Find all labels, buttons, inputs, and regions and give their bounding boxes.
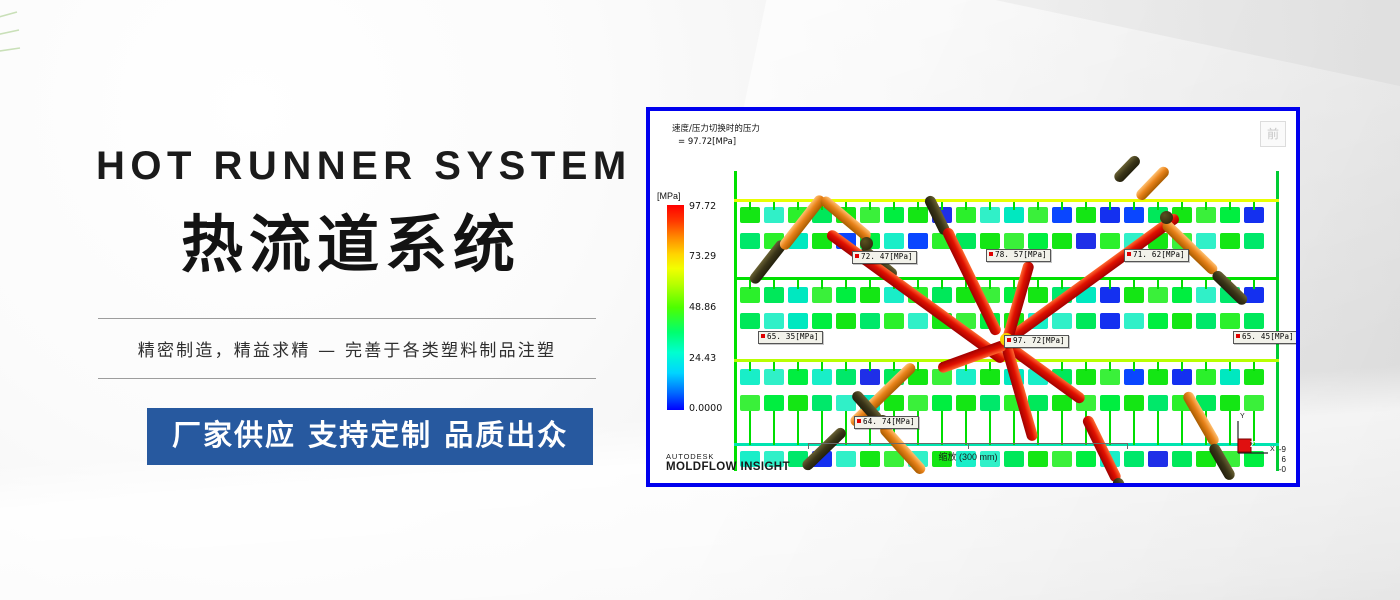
cavity-cell bbox=[1196, 287, 1216, 303]
cavity-cell bbox=[1148, 313, 1168, 329]
legend-colorbar bbox=[667, 205, 684, 410]
axis-value-1: 6 bbox=[1279, 455, 1286, 465]
axis-triad: Z Y X -9 6 -0 bbox=[1228, 413, 1286, 475]
runner-cold-5 bbox=[1112, 154, 1142, 185]
cavity-cell bbox=[932, 395, 952, 411]
front-view-button[interactable]: 前 bbox=[1260, 121, 1286, 147]
cavity-cell bbox=[1220, 233, 1240, 249]
gate-drop bbox=[1133, 411, 1135, 445]
pressure-probe-label[interactable]: 72. 47[MPa] bbox=[852, 251, 917, 264]
cavity-cell bbox=[860, 287, 880, 303]
cavity-cell bbox=[908, 313, 928, 329]
cavity-cell bbox=[860, 313, 880, 329]
gate-drop bbox=[1253, 362, 1255, 371]
cavity-cell bbox=[1172, 313, 1192, 329]
pressure-probe-label[interactable]: 65. 35[MPa] bbox=[758, 331, 823, 344]
gate-drop bbox=[869, 362, 871, 371]
autodesk-wordmark: AUTODESK bbox=[666, 453, 790, 461]
cavity-cell bbox=[1028, 287, 1048, 303]
gate-drop bbox=[773, 362, 775, 371]
autodesk-branding: AUTODESK MOLDFLOW INSIGHT bbox=[666, 453, 790, 473]
gate-drop bbox=[1253, 202, 1255, 210]
gate-drop bbox=[1205, 202, 1207, 210]
cavity-cell bbox=[1244, 395, 1264, 411]
gate-drop bbox=[1061, 202, 1063, 210]
pressure-probe-label[interactable]: 65. 45[MPa] bbox=[1233, 331, 1296, 344]
axis-value-0: -9 bbox=[1279, 445, 1286, 455]
gate-drop bbox=[989, 362, 991, 371]
cavity-cell bbox=[1172, 451, 1192, 467]
legend-tick-3: 24.43 bbox=[689, 353, 716, 364]
gate-drop bbox=[917, 362, 919, 371]
gate-drop bbox=[1229, 362, 1231, 371]
rail-left bbox=[734, 171, 737, 471]
gate-drop bbox=[773, 280, 775, 289]
gate-drop bbox=[1157, 202, 1159, 210]
gate-drop bbox=[989, 202, 991, 210]
cavity-cell bbox=[1052, 313, 1072, 329]
cavity-cell bbox=[1148, 369, 1168, 385]
gate-drop bbox=[1157, 280, 1159, 289]
moldflow-viewport[interactable]: 速度/压力切换时的压力 = 97.72[MPa] 前 [MPa] 97.72 7… bbox=[646, 107, 1300, 487]
cavity-cell bbox=[1244, 313, 1264, 329]
cavity-cell bbox=[956, 369, 976, 385]
gate-drop bbox=[845, 280, 847, 289]
cavity-cell bbox=[1052, 233, 1072, 249]
gate-drop bbox=[797, 362, 799, 371]
pressure-probe-label[interactable]: 97. 72[MPa] bbox=[1004, 335, 1069, 348]
gate-drop bbox=[1133, 202, 1135, 210]
simulation-title: 速度/压力切换时的压力 = 97.72[MPa] bbox=[672, 123, 760, 149]
cavity-cell bbox=[860, 369, 880, 385]
gate-drop bbox=[821, 362, 823, 371]
simulation-title-line2: = 97.72[MPa] bbox=[672, 137, 736, 147]
cavity-cell bbox=[1220, 313, 1240, 329]
cavity-cell bbox=[1244, 369, 1264, 385]
cavity-cell bbox=[788, 287, 808, 303]
cavity-cell bbox=[884, 233, 904, 249]
cavity-cell bbox=[1196, 233, 1216, 249]
hot-runner-banner: HOT RUNNER SYSTEM 热流道系统 精密制造，精益求精 — 完善于各… bbox=[0, 0, 1400, 600]
banner-text-column: HOT RUNNER SYSTEM 热流道系统 精密制造，精益求精 — 完善于各… bbox=[96, 146, 606, 465]
gate-drop bbox=[1061, 362, 1063, 371]
gate-drop bbox=[749, 411, 751, 445]
cavity-cell bbox=[740, 395, 760, 411]
gate-drop bbox=[1157, 411, 1159, 445]
gate-drop bbox=[965, 202, 967, 210]
gate-drop bbox=[1181, 411, 1183, 445]
runner-warm-4 bbox=[1134, 164, 1171, 202]
gate-drop bbox=[869, 280, 871, 289]
scale-bar: 缩放 (300 mm) bbox=[808, 443, 1128, 465]
gate-drop bbox=[1109, 280, 1111, 289]
gate-drop bbox=[773, 411, 775, 445]
gate-drop bbox=[1181, 280, 1183, 289]
cavity-cell bbox=[1100, 395, 1120, 411]
mold-plate-mesh[interactable]: 72. 47[MPa]78. 57[MPa]71. 62[MPa]65. 35[… bbox=[734, 171, 1282, 471]
gate-drop bbox=[797, 202, 799, 210]
cavity-cell bbox=[1028, 395, 1048, 411]
cavity-cell bbox=[836, 313, 856, 329]
pressure-probe-label[interactable]: 64. 74[MPa] bbox=[854, 416, 919, 429]
cavity-cell bbox=[980, 233, 1000, 249]
pressure-probe-label[interactable]: 78. 57[MPa] bbox=[986, 249, 1051, 262]
cavity-cell bbox=[740, 233, 760, 249]
cavity-cell bbox=[788, 313, 808, 329]
legend-tick-4: 0.0000 bbox=[689, 403, 722, 414]
gate-drop bbox=[821, 280, 823, 289]
gate-drop bbox=[941, 202, 943, 210]
gate-drop bbox=[1181, 202, 1183, 210]
gate-drop bbox=[797, 280, 799, 289]
cavity-cell bbox=[1124, 287, 1144, 303]
cavity-cell bbox=[1076, 313, 1096, 329]
cta-button[interactable]: 厂家供应 支持定制 品质出众 bbox=[147, 408, 593, 465]
axis-label-x: X bbox=[1270, 446, 1275, 453]
scale-bar-label: 缩放 (300 mm) bbox=[808, 450, 1128, 463]
cavity-cell bbox=[908, 395, 928, 411]
cavity-cell bbox=[932, 287, 952, 303]
cavity-cell bbox=[788, 395, 808, 411]
cavity-cell bbox=[956, 395, 976, 411]
gate-drop bbox=[1157, 362, 1159, 371]
gate-drop bbox=[1013, 411, 1015, 445]
gate-drop bbox=[1013, 280, 1015, 289]
scale-tick-2 bbox=[1127, 443, 1128, 449]
cavity-cell bbox=[788, 369, 808, 385]
cavity-cell bbox=[1124, 395, 1144, 411]
gate-drop bbox=[965, 411, 967, 445]
gate-drop bbox=[773, 202, 775, 210]
gate-drop bbox=[1061, 280, 1063, 289]
cavity-cell bbox=[1172, 369, 1192, 385]
cavity-cell bbox=[884, 313, 904, 329]
cavity-cell bbox=[1076, 233, 1096, 249]
gate-drop bbox=[845, 202, 847, 210]
simulation-title-line1: 速度/压力切换时的压力 bbox=[672, 124, 760, 134]
gate-drop bbox=[1037, 202, 1039, 210]
gate-drop bbox=[1229, 202, 1231, 210]
cavity-cell bbox=[1004, 233, 1024, 249]
headline-english: HOT RUNNER SYSTEM bbox=[96, 146, 606, 186]
gate-drop bbox=[1037, 411, 1039, 445]
gate-drop bbox=[941, 411, 943, 445]
simulation-canvas[interactable]: 速度/压力切换时的压力 = 97.72[MPa] 前 [MPa] 97.72 7… bbox=[650, 111, 1296, 483]
legend-body: 97.72 73.29 48.86 24.43 0.0000 bbox=[655, 205, 733, 410]
cavity-cell bbox=[812, 313, 832, 329]
cavity-cell bbox=[1100, 369, 1120, 385]
pressure-legend: [MPa] 97.72 73.29 48.86 24.43 0.0000 bbox=[655, 191, 733, 410]
cavity-cell bbox=[1148, 395, 1168, 411]
gate-drop bbox=[941, 280, 943, 289]
cavity-cell bbox=[980, 369, 1000, 385]
gate-drop bbox=[989, 411, 991, 445]
cavity-cell bbox=[812, 287, 832, 303]
legend-unit-label: [MPa] bbox=[657, 191, 733, 201]
gate-drop bbox=[845, 411, 847, 445]
gate-drop bbox=[893, 202, 895, 210]
svg-text:Z: Z bbox=[1250, 440, 1256, 449]
cavity-cell bbox=[1076, 369, 1096, 385]
gate-drop bbox=[989, 280, 991, 289]
gate-drop bbox=[1085, 362, 1087, 371]
cavity-cell bbox=[1220, 369, 1240, 385]
gate-drop bbox=[1133, 280, 1135, 289]
cavity-cell bbox=[1220, 395, 1240, 411]
cavity-cell bbox=[1124, 369, 1144, 385]
gate-drop bbox=[869, 202, 871, 210]
cavity-cell bbox=[1172, 287, 1192, 303]
gate-drop bbox=[1205, 280, 1207, 289]
gate-drop bbox=[1205, 362, 1207, 371]
axis-value-2: -0 bbox=[1279, 465, 1286, 475]
scale-tick-0 bbox=[808, 443, 809, 449]
cavity-cell bbox=[740, 369, 760, 385]
gate-drop bbox=[845, 362, 847, 371]
cavity-cell bbox=[1100, 287, 1120, 303]
junction-node-right bbox=[1160, 211, 1173, 224]
gate-drop bbox=[749, 202, 751, 210]
axis-values: -9 6 -0 bbox=[1279, 445, 1286, 475]
gate-drop bbox=[1085, 202, 1087, 210]
headline-chinese: 热流道系统 bbox=[96, 212, 606, 278]
axis-label-y: Y bbox=[1240, 413, 1245, 420]
cavity-cell bbox=[1244, 233, 1264, 249]
gate-drop bbox=[1013, 202, 1015, 210]
cavity-cell bbox=[740, 287, 760, 303]
gate-drop bbox=[1061, 411, 1063, 445]
cavity-cell bbox=[1124, 313, 1144, 329]
cavity-cell bbox=[980, 395, 1000, 411]
gate-drop bbox=[917, 280, 919, 289]
cavity-cell bbox=[1148, 451, 1168, 467]
pressure-probe-label[interactable]: 71. 62[MPa] bbox=[1124, 249, 1189, 262]
rail-row-2 bbox=[734, 277, 1279, 280]
gate-drop bbox=[797, 411, 799, 445]
gate-drop bbox=[1133, 362, 1135, 371]
cavity-cell bbox=[1028, 233, 1048, 249]
legend-tick-1: 73.29 bbox=[689, 251, 716, 262]
cavity-cell bbox=[812, 369, 832, 385]
gate-drop bbox=[1109, 411, 1111, 445]
cavity-cell bbox=[836, 369, 856, 385]
cavity-cell bbox=[1100, 313, 1120, 329]
cavity-cell bbox=[836, 287, 856, 303]
cavity-cell bbox=[740, 313, 760, 329]
moldflow-wordmark: MOLDFLOW INSIGHT bbox=[666, 461, 790, 473]
cavity-cell bbox=[908, 233, 928, 249]
cavity-cell bbox=[764, 313, 784, 329]
gate-drop bbox=[749, 362, 751, 371]
cavity-cell bbox=[764, 287, 784, 303]
legend-tick-2: 48.86 bbox=[689, 302, 716, 313]
cavity-cell bbox=[764, 369, 784, 385]
gate-drop bbox=[1181, 362, 1183, 371]
cavity-cell bbox=[812, 395, 832, 411]
banner-subtitle: 精密制造，精益求精 — 完善于各类塑料制品注塑 bbox=[98, 319, 596, 378]
gate-drop bbox=[821, 411, 823, 445]
gate-drop bbox=[1109, 362, 1111, 371]
cavity-cell bbox=[764, 395, 784, 411]
gate-drop bbox=[893, 362, 895, 371]
cavity-cell bbox=[1196, 313, 1216, 329]
cavity-cell bbox=[1196, 369, 1216, 385]
gate-drop bbox=[1109, 202, 1111, 210]
gate-drop bbox=[917, 202, 919, 210]
scale-tick-1 bbox=[968, 443, 969, 449]
cavity-cell bbox=[1100, 233, 1120, 249]
cavity-cell bbox=[1148, 287, 1168, 303]
gate-drop bbox=[1037, 280, 1039, 289]
legend-tick-0: 97.72 bbox=[689, 201, 716, 212]
gate-drop bbox=[1253, 280, 1255, 289]
junction-node-left bbox=[860, 237, 873, 250]
divider-bottom bbox=[98, 378, 596, 379]
